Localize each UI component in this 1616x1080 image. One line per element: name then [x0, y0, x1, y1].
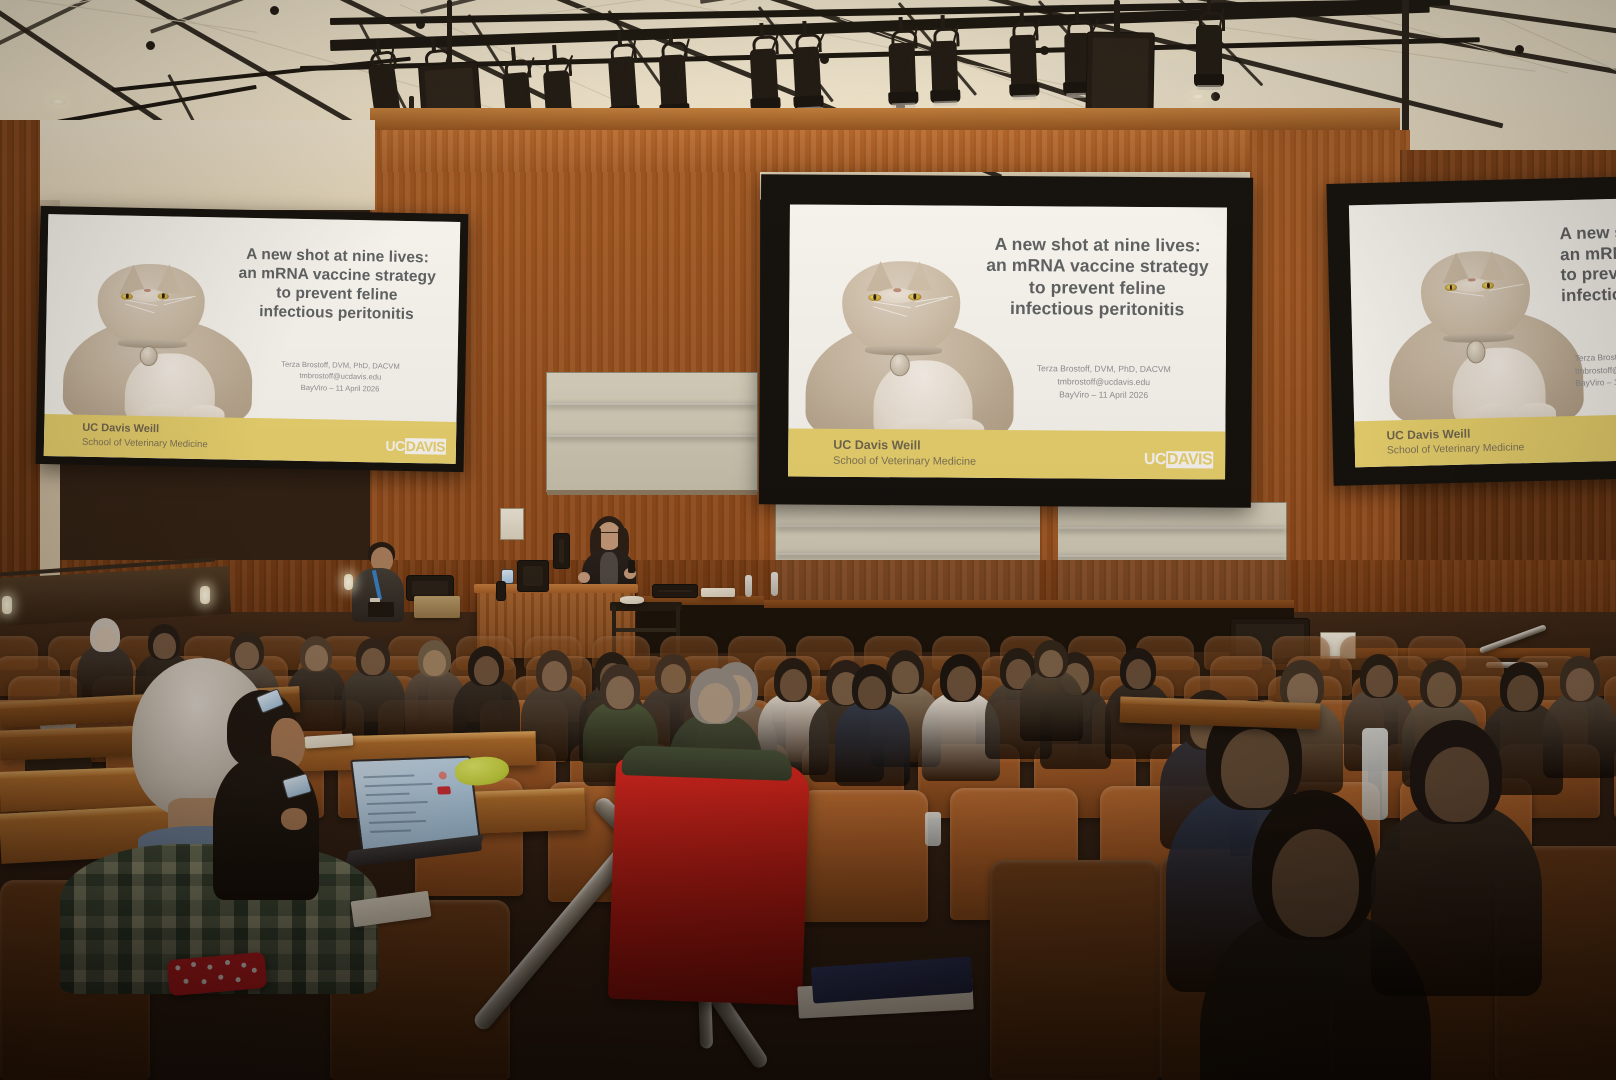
- audience-member-head: [1427, 672, 1456, 707]
- presenter-hand-left: [578, 572, 590, 583]
- stage-light-body: [793, 46, 822, 99]
- water-bottle: [771, 572, 778, 596]
- stage-light: [745, 35, 783, 117]
- lectern-monitor: [517, 560, 549, 592]
- audience-member-head: [1507, 675, 1538, 711]
- slide-left: A new shot at nine lives:an mRNA vaccine…: [44, 214, 461, 464]
- aisle-light: [200, 586, 210, 604]
- audience-member: [1034, 640, 1112, 739]
- red-jacket-on-seat: [608, 759, 810, 1006]
- ceiling-beam-joint: [146, 41, 155, 50]
- water-bottle-audience: [925, 812, 941, 846]
- cart-shelf: [612, 628, 680, 632]
- bench-equipment: [652, 584, 698, 598]
- projection-screen-center: A new shot at nine lives:an mRNA vaccine…: [759, 174, 1253, 507]
- audience-member-head: [95, 627, 116, 651]
- stage-light: [788, 33, 826, 115]
- wood-trim-header: [370, 108, 1400, 130]
- wall-wood-panel-upper: [380, 130, 1390, 172]
- ceiling-downlight: [50, 98, 66, 105]
- presenter-glasses: [598, 532, 620, 537]
- cart-papers: [620, 596, 644, 604]
- slide-subtitle: Terza Brostoff, DVM, PhD, DACVMtmbrostof…: [1575, 347, 1616, 390]
- projection-screen-left: A new shot at nine lives:an mRNA vaccine…: [36, 206, 469, 472]
- projection-screen-right: A new shot at nine lives:an mRNA vaccine…: [1326, 176, 1616, 486]
- lecture-hall-photo: A new shot at nine lives:an mRNA vaccine…: [0, 0, 1616, 1080]
- logo-uc: UC: [1144, 451, 1166, 468]
- water-bottle-audience: [1362, 728, 1388, 820]
- speaker-drop-pole: [447, 0, 452, 66]
- presenter-shirt: [600, 552, 618, 584]
- slide-footer-sub: School of Veterinary Medicine: [833, 455, 976, 468]
- audience-member-head: [1039, 650, 1063, 677]
- slide-title: A new shot at nine lives:an mRNA vaccine…: [222, 245, 451, 325]
- audience-member-head: [606, 676, 634, 709]
- slide-center: A new shot at nine lives:an mRNA vaccine…: [788, 204, 1227, 479]
- wall-plaster-left: [40, 120, 375, 210]
- slide-title-line-2: to prevent feline: [971, 276, 1223, 299]
- water-bottle: [745, 575, 752, 597]
- stage-light-body: [750, 48, 779, 101]
- av-technician: [350, 542, 408, 622]
- stage-light: [926, 27, 963, 108]
- slide-subtitle: Terza Brostoff, DVM, PhD, DACVMtmbrostof…: [231, 358, 450, 396]
- audience-member-head: [858, 676, 886, 709]
- laptop-avatar-dot: [438, 771, 447, 779]
- audience-seat-near: [800, 790, 928, 922]
- stage-light: [1005, 21, 1042, 102]
- stage-light-body: [1009, 35, 1037, 88]
- audience-member-torso: [1371, 803, 1542, 995]
- slide-footer-bar: UC Davis Weill School of Veterinary Medi…: [1354, 414, 1616, 467]
- wall-poster: [500, 508, 524, 540]
- equipment-cart: [610, 602, 682, 611]
- av-tech-device: [368, 602, 394, 617]
- stage-light-barndoor: [934, 101, 958, 107]
- phone-user-hand: [281, 808, 307, 830]
- slide-footer-org: UC Davis Weill: [82, 422, 159, 435]
- slide-title-line-1: an mRNA vaccine strategy: [971, 255, 1223, 278]
- logo-uc: UC: [385, 438, 405, 454]
- audience-member-torso: [1020, 670, 1083, 740]
- slide-footer-org: UC Davis Weill: [1386, 427, 1470, 443]
- audience-member-head: [474, 656, 499, 685]
- audience-member: [852, 664, 944, 784]
- lectern-mic: [496, 581, 506, 601]
- audience-member-head: [1126, 659, 1151, 689]
- audience-member-head: [542, 661, 567, 691]
- bench-papers: [701, 588, 735, 597]
- audience-member-head: [1272, 829, 1359, 937]
- ceiling-beam-joint: [1515, 45, 1524, 54]
- jacket-collar: [622, 745, 793, 781]
- slide-footer-bar: UC Davis Weill School of Veterinary Medi…: [44, 414, 457, 464]
- whiteboard-left: [546, 372, 758, 492]
- ucdavis-logo: UCDAVIS: [1144, 451, 1213, 469]
- laptop-accent-badge: [437, 786, 451, 794]
- slide-title-line-0: A new shot at nine lives:: [1559, 218, 1616, 245]
- audience-member: [1410, 720, 1616, 990]
- ceiling-beam-joint: [1211, 92, 1220, 101]
- wall-speaker-small: [553, 533, 570, 569]
- audience-member-head: [1366, 665, 1393, 697]
- slide-subtitle: Terza Brostoff, DVM, PhD, DACVMtmbrostof…: [985, 362, 1223, 402]
- slide-footer-sub: School of Veterinary Medicine: [1387, 442, 1525, 456]
- slide-right: A new shot at nine lives:an mRNA vaccine…: [1349, 198, 1616, 467]
- slide-footer-sub: School of Veterinary Medicine: [82, 437, 208, 450]
- presenter-clicker: [628, 560, 635, 573]
- logo-davis: DAVIS: [405, 438, 447, 455]
- stage-light-barndoor: [1197, 85, 1221, 90]
- audience-member-phone-user: [205, 690, 325, 900]
- slide-footer-org: UC Davis Weill: [833, 438, 920, 453]
- ucdavis-logo: UCDAVIS: [385, 438, 446, 455]
- slide-title-line-3: infectious peritonitis: [971, 298, 1223, 321]
- stage-light-body: [930, 41, 958, 94]
- slide-title: A new shot at nine lives:an mRNA vaccine…: [971, 234, 1224, 321]
- stage-light-body: [608, 56, 638, 110]
- stage-light-barndoor: [1013, 95, 1037, 101]
- aisle-light: [344, 574, 353, 590]
- aisle-light: [2, 596, 12, 614]
- slide-footer-bar: UC Davis Weill School of Veterinary Medi…: [788, 428, 1225, 479]
- logo-davis: DAVIS: [1166, 451, 1213, 468]
- slide-event: BayViro – 11 April 2026: [985, 388, 1223, 403]
- audience-member-head: [153, 633, 175, 659]
- slide-title: A new shot at nine lives:an mRNA vaccine…: [1559, 218, 1616, 307]
- audience-member-head: [1566, 668, 1594, 701]
- audience-member-head: [698, 683, 733, 723]
- speaker-drop-pole: [1114, 0, 1120, 36]
- audience-seat-foreground: [990, 860, 1160, 1080]
- slide-title-line-0: A new shot at nine lives:: [972, 234, 1224, 257]
- audience-member-head: [1425, 747, 1489, 822]
- ceiling-beam-joint: [270, 6, 279, 15]
- audience-member-torso: [835, 701, 909, 786]
- audience-member-head: [423, 650, 446, 677]
- audience-member-head: [947, 666, 976, 701]
- gear-crate: [414, 596, 460, 618]
- ceiling-downlight: [1190, 93, 1206, 100]
